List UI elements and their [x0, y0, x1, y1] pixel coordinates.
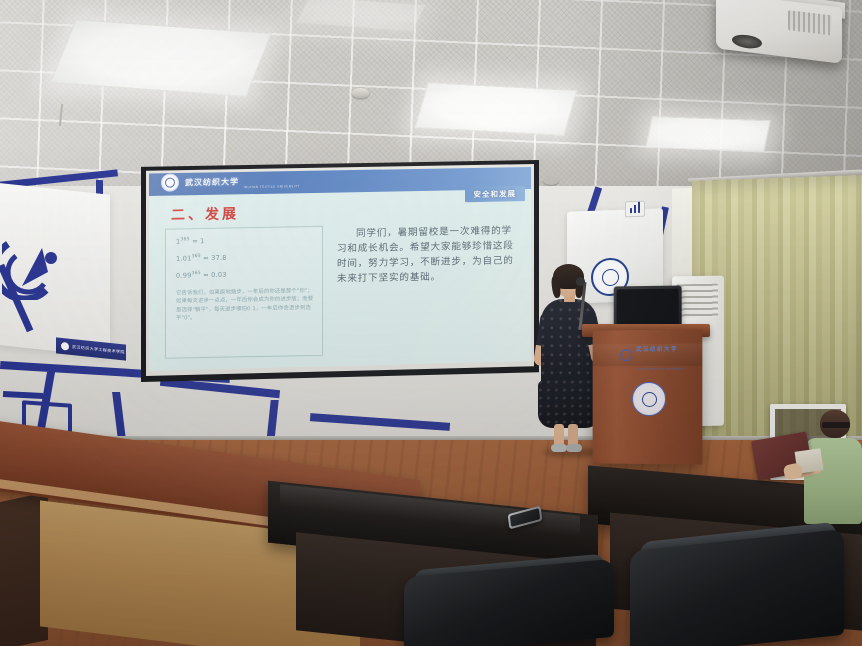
emblem-inner-ring [642, 392, 657, 407]
slide-university-subtitle: WUHAN TEXTILE UNIVERSITY [244, 184, 300, 189]
slide-body: 1365 = 1 1.01365 ≈ 37.8 0.99365 ≈ 0.03 它… [165, 222, 519, 358]
presentation-slide: 武汉纺织大学 WUHAN TEXTILE UNIVERSITY 安全和发展 二、… [149, 167, 531, 371]
bar-chart-icon [625, 201, 645, 218]
slide-title: 二、发展 [171, 203, 239, 224]
formula-row: 1.01365 ≈ 37.8 [176, 252, 314, 263]
chart-bar [630, 208, 633, 213]
ceiling-speaker-icon [543, 176, 559, 185]
classroom-photo: 武汉纺织大学工程技术学院 武汉纺织大学 WUHAN TEXTILE UNIVE [0, 0, 862, 646]
attendee-glasses-icon [822, 422, 850, 428]
microphone-icon [576, 277, 585, 286]
university-logo-icon [161, 173, 179, 191]
ac-vent-icon [676, 284, 718, 319]
formula-box: 1365 = 1 1.01365 ≈ 37.8 0.99365 ≈ 0.03 它… [165, 226, 323, 359]
podium-emblem-icon [620, 349, 632, 361]
ceiling-panel-light [415, 82, 578, 136]
projector-vent [788, 10, 832, 35]
chart-bar [638, 202, 641, 213]
podium-university-name: 武汉纺织大学 [636, 347, 678, 353]
formula-row: 1365 = 1 [176, 235, 314, 246]
smoke-detector-icon [352, 88, 369, 98]
ceiling-panel-light [50, 19, 272, 97]
formula-row: 0.99365 ≈ 0.03 [176, 269, 314, 280]
slide-corner-tag: 安全和发展 [465, 186, 526, 202]
presenter-dress-skirt [538, 380, 600, 428]
podium-name-band: 武汉纺织大学 WUHAN TEXTILE UNIVERSITY [593, 344, 703, 367]
podium-front-emblem [632, 382, 666, 416]
presenter-shoe [566, 444, 582, 452]
wall-badge-text: 武汉纺织大学工程技术学院 [72, 344, 125, 356]
slide-university-name: 武汉纺织大学 [185, 176, 239, 188]
ceiling-panel-light [645, 116, 771, 152]
formula-note: 它告诉我们，如果原地踏步，一年后的你还是那个"你"；如果每天进步一点点，一年后你… [176, 287, 314, 324]
podium-university-subtitle: WUHAN TEXTILE UNIVERSITY [636, 368, 686, 371]
projector-lens-icon [732, 33, 762, 50]
chart-bar [634, 205, 637, 213]
badge-logo-icon [61, 342, 69, 351]
presenter-shoe [551, 444, 567, 452]
monitor-screen [617, 289, 679, 328]
slide-paragraph: 同学们，暑期留校是一次难得的学习和成长机会。希望大家能够珍惜这段时间，努力学习，… [333, 222, 519, 355]
